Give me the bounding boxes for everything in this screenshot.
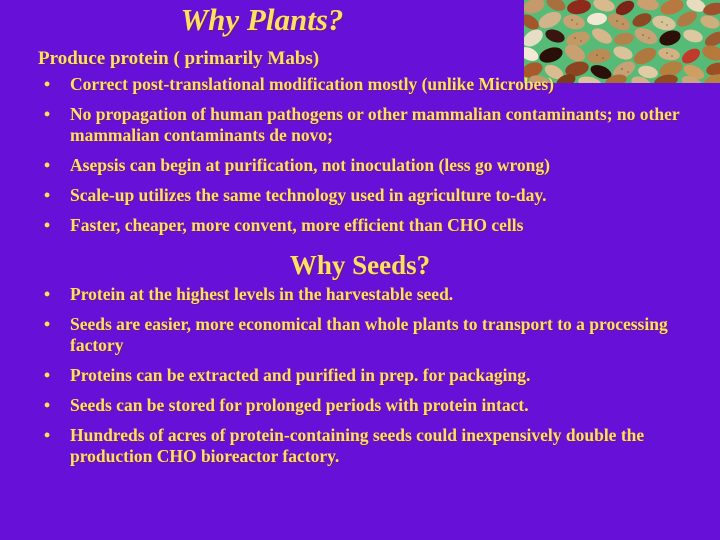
list-item-text: Protein at the highest levels in the har… [70,284,453,304]
slide-canvas: Why Plants? Produce protein ( primarily … [0,0,720,540]
lead-line: Produce protein ( primarily Mabs) [0,46,720,74]
list-item-text: Asepsis can begin at purification, not i… [70,155,550,175]
bullet-icon: • [44,155,50,176]
bullet-icon: • [44,215,50,236]
list-item: • Protein at the highest levels in the h… [0,284,720,314]
section-subtitle: Why Seeds? [0,249,720,282]
list-item-text: Scale-up utilizes the same technology us… [70,185,547,205]
list-item: • No propagation of human pathogens or o… [0,104,720,155]
list-item-text: Hundreds of acres of protein-containing … [70,425,644,466]
list-item-text: Faster, cheaper, more convent, more effi… [70,215,523,235]
list-item: • Scale-up utilizes the same technology … [0,185,720,215]
list-item: • Hundreds of acres of protein-containin… [0,425,720,476]
slide-body: Produce protein ( primarily Mabs) • Corr… [0,46,720,476]
list-item: • Proteins can be extracted and purified… [0,365,720,395]
bullet-icon: • [44,395,50,416]
bullet-icon: • [44,74,50,95]
bullet-icon: • [44,365,50,386]
plants-bullet-list: • Correct post-translational modificatio… [0,74,720,245]
bullet-icon: • [44,185,50,206]
bullet-icon: • [44,314,50,335]
list-item: • Asepsis can begin at purification, not… [0,155,720,185]
bullet-icon: • [44,425,50,446]
list-item-text: Proteins can be extracted and purified i… [70,365,530,385]
list-item-text: No propagation of human pathogens or oth… [70,104,679,145]
bullet-icon: • [44,284,50,305]
list-item: • Correct post-translational modificatio… [0,74,720,104]
list-item: • Seeds are easier, more economical than… [0,314,720,365]
list-item-text: Seeds are easier, more economical than w… [70,314,668,355]
slide-title: Why Plants? [0,2,524,38]
list-item: • Seeds can be stored for prolonged peri… [0,395,720,425]
list-item: • Faster, cheaper, more convent, more ef… [0,215,720,245]
list-item-text: Seeds can be stored for prolonged period… [70,395,529,415]
bullet-icon: • [44,104,50,125]
seeds-bullet-list: • Protein at the highest levels in the h… [0,284,720,476]
list-item-text: Correct post-translational modification … [70,74,554,94]
